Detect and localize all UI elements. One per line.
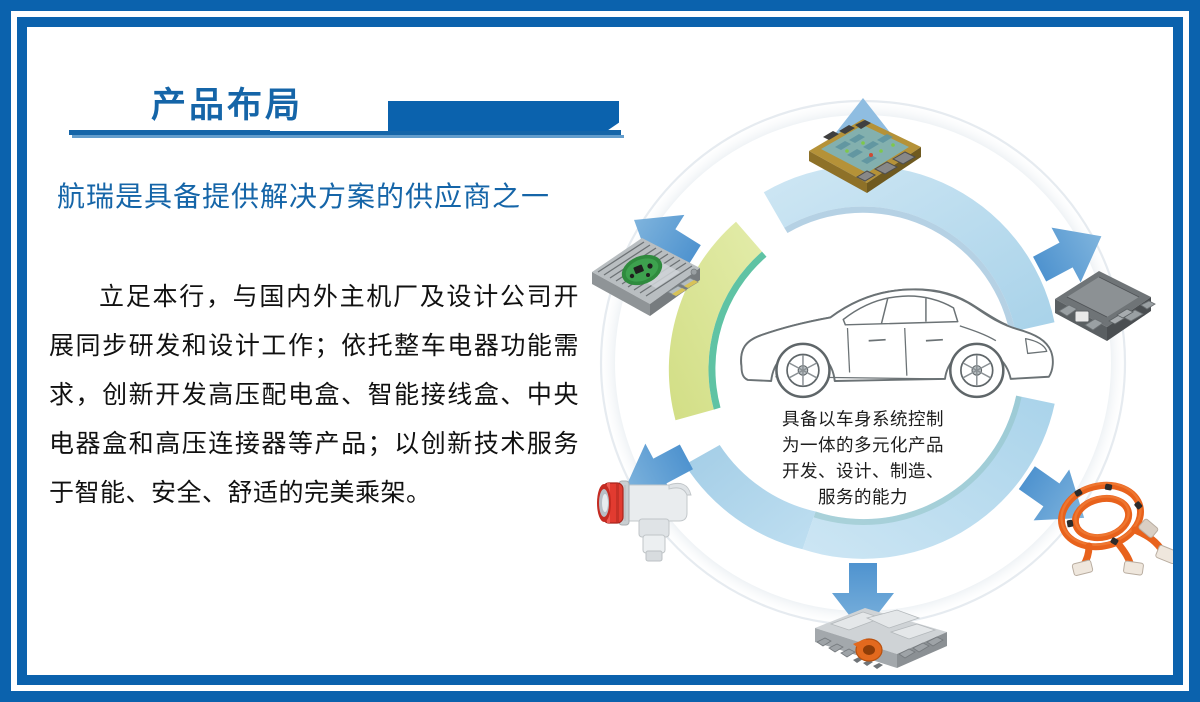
product-junction-box-metal	[1037, 253, 1167, 345]
center-caption-line-3: 开发、设计、制造、	[747, 459, 979, 485]
product-cycle-diagram: 具备以车身系统控制 为一体的多元化产品 开发、设计、制造、 服务的能力	[547, 63, 1167, 663]
lead-statement: 航瑞是具备提供解决方案的供应商之一	[57, 175, 597, 215]
header-rule-shadow	[72, 135, 624, 138]
product-hv-orange-cable-harness	[1045, 468, 1173, 578]
header: 产品布局	[48, 55, 628, 141]
product-hv-connector-red-white	[591, 461, 705, 569]
product-hv-power-distribution-box	[797, 598, 957, 675]
slide-root: 产品布局 航瑞是具备提供解决方案的供应商之一 立足本行，与国内外主机厂及设计公司…	[0, 0, 1200, 702]
center-caption-line-1: 具备以车身系统控制	[747, 407, 979, 433]
center-caption: 具备以车身系统控制 为一体的多元化产品 开发、设计、制造、 服务的能力	[747, 407, 979, 511]
body-paragraph: 立足本行，与国内外主机厂及设计公司开展同步研发和设计工作；依托整车电器功能需求，…	[49, 272, 579, 517]
page-title: 产品布局	[151, 77, 303, 128]
center-caption-line-2: 为一体的多元化产品	[747, 433, 979, 459]
center-caption-line-4: 服务的能力	[747, 485, 979, 511]
product-control-module-pcb	[795, 101, 927, 193]
product-heatsink-ecu-module	[579, 223, 711, 321]
slide-canvas: 产品布局 航瑞是具备提供解决方案的供应商之一 立足本行，与国内外主机厂及设计公司…	[27, 27, 1173, 675]
